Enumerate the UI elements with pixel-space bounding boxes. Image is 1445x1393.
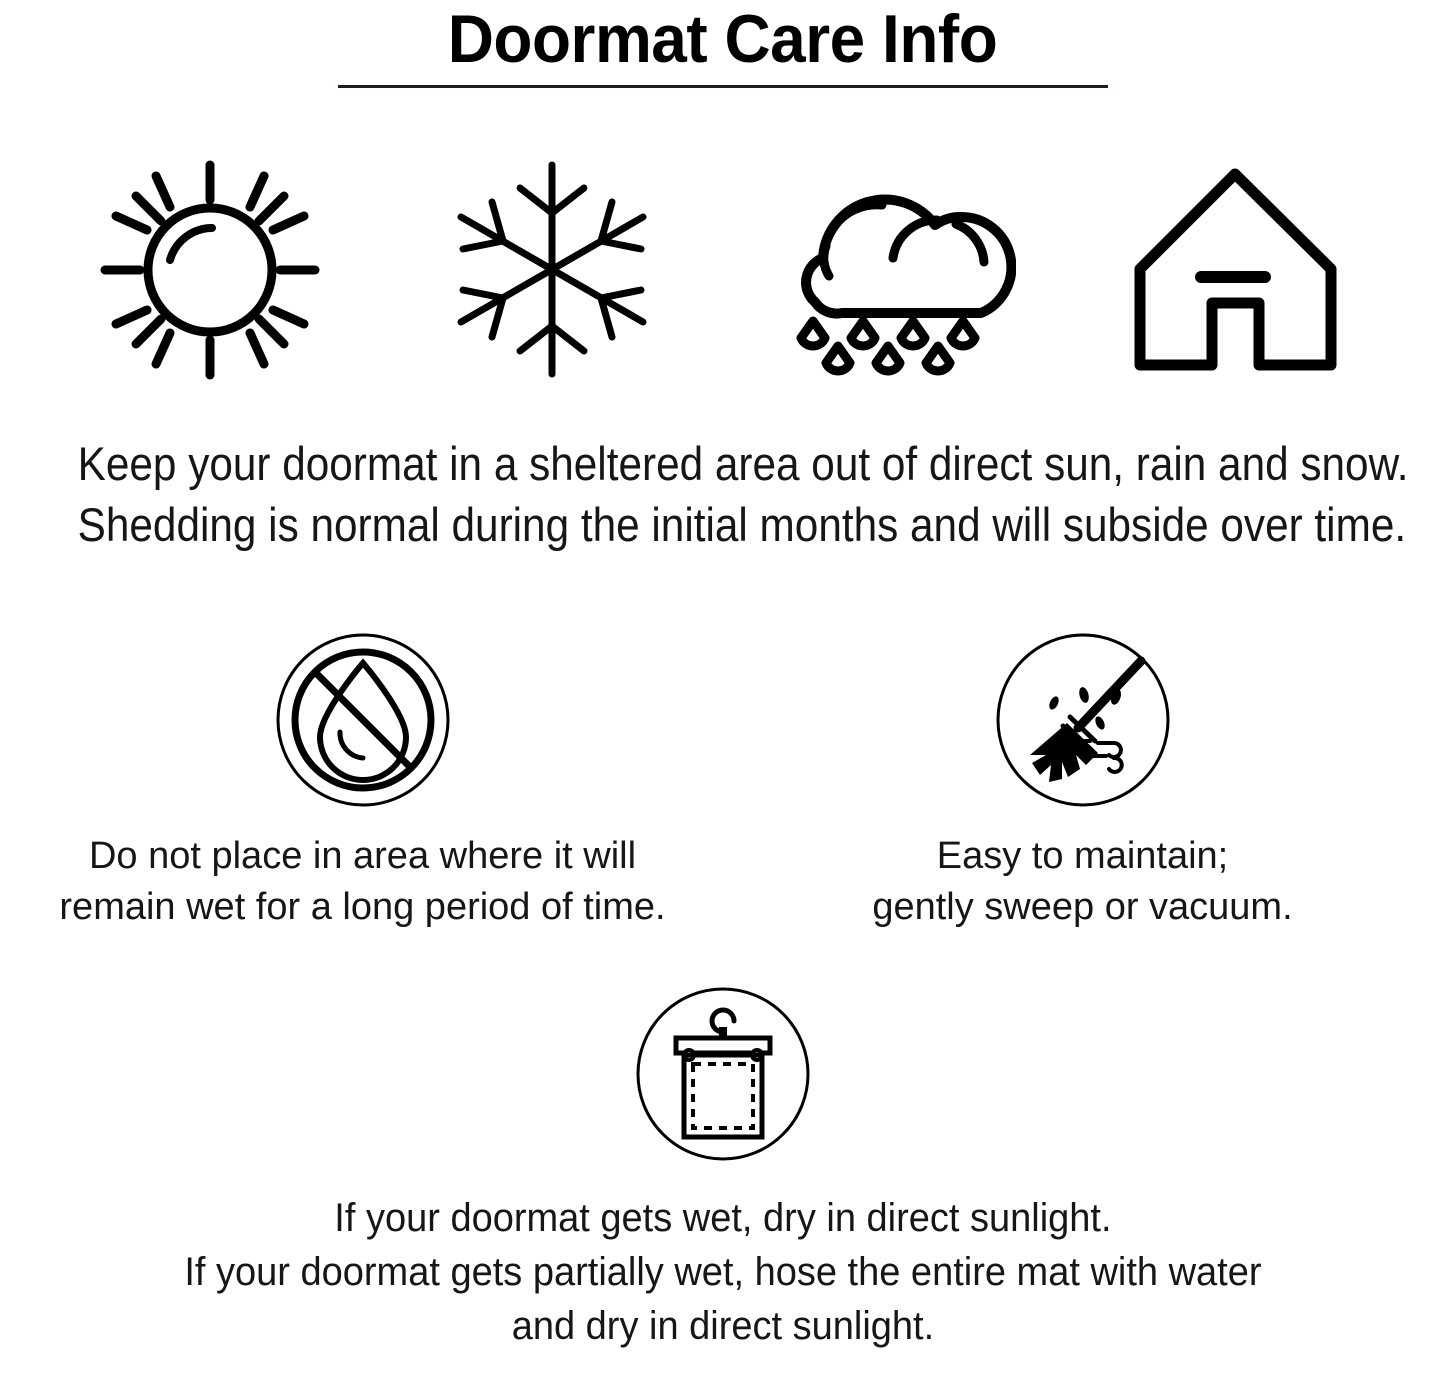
care-item-sweep: Easy to maintain; gently sweep or vacuum…	[723, 625, 1443, 933]
dry-line-2: If your doormat gets partially wet, hose…	[184, 1245, 1261, 1299]
broom-icon	[994, 625, 1172, 815]
dry-line-1: If your doormat gets wet, dry in direct …	[184, 1191, 1261, 1245]
no-water-icon	[274, 625, 452, 815]
intro-line-1: Keep your doormat in a sheltered area ou…	[78, 433, 1368, 494]
sun-icon	[85, 152, 335, 387]
no-water-caption: Do not place in area where it will remai…	[59, 831, 665, 933]
rain-cloud-icon	[769, 152, 1019, 387]
care-item-no-water: Do not place in area where it will remai…	[3, 625, 723, 933]
title-divider	[338, 85, 1108, 88]
no-water-line-2: remain wet for a long period of time.	[59, 882, 665, 933]
header: Doormat Care Info	[0, 0, 1445, 88]
hang-dry-icon	[634, 979, 812, 1169]
sweep-line-1: Easy to maintain;	[872, 831, 1292, 882]
dry-section: If your doormat gets wet, dry in direct …	[0, 979, 1445, 1353]
dry-line-3: and dry in direct sunlight.	[184, 1299, 1261, 1353]
snowflake-icon	[427, 152, 677, 387]
weather-icon-row	[0, 152, 1445, 387]
care-row: Do not place in area where it will remai…	[0, 625, 1445, 933]
intro-paragraph: Keep your doormat in a sheltered area ou…	[0, 433, 1445, 555]
sweep-caption: Easy to maintain; gently sweep or vacuum…	[872, 831, 1292, 933]
house-icon	[1111, 152, 1361, 387]
no-water-line-1: Do not place in area where it will	[59, 831, 665, 882]
page-title: Doormat Care Info	[43, 2, 1401, 76]
dry-caption: If your doormat gets wet, dry in direct …	[156, 1191, 1290, 1353]
sweep-line-2: gently sweep or vacuum.	[872, 882, 1292, 933]
intro-line-2: Shedding is normal during the initial mo…	[78, 494, 1368, 555]
